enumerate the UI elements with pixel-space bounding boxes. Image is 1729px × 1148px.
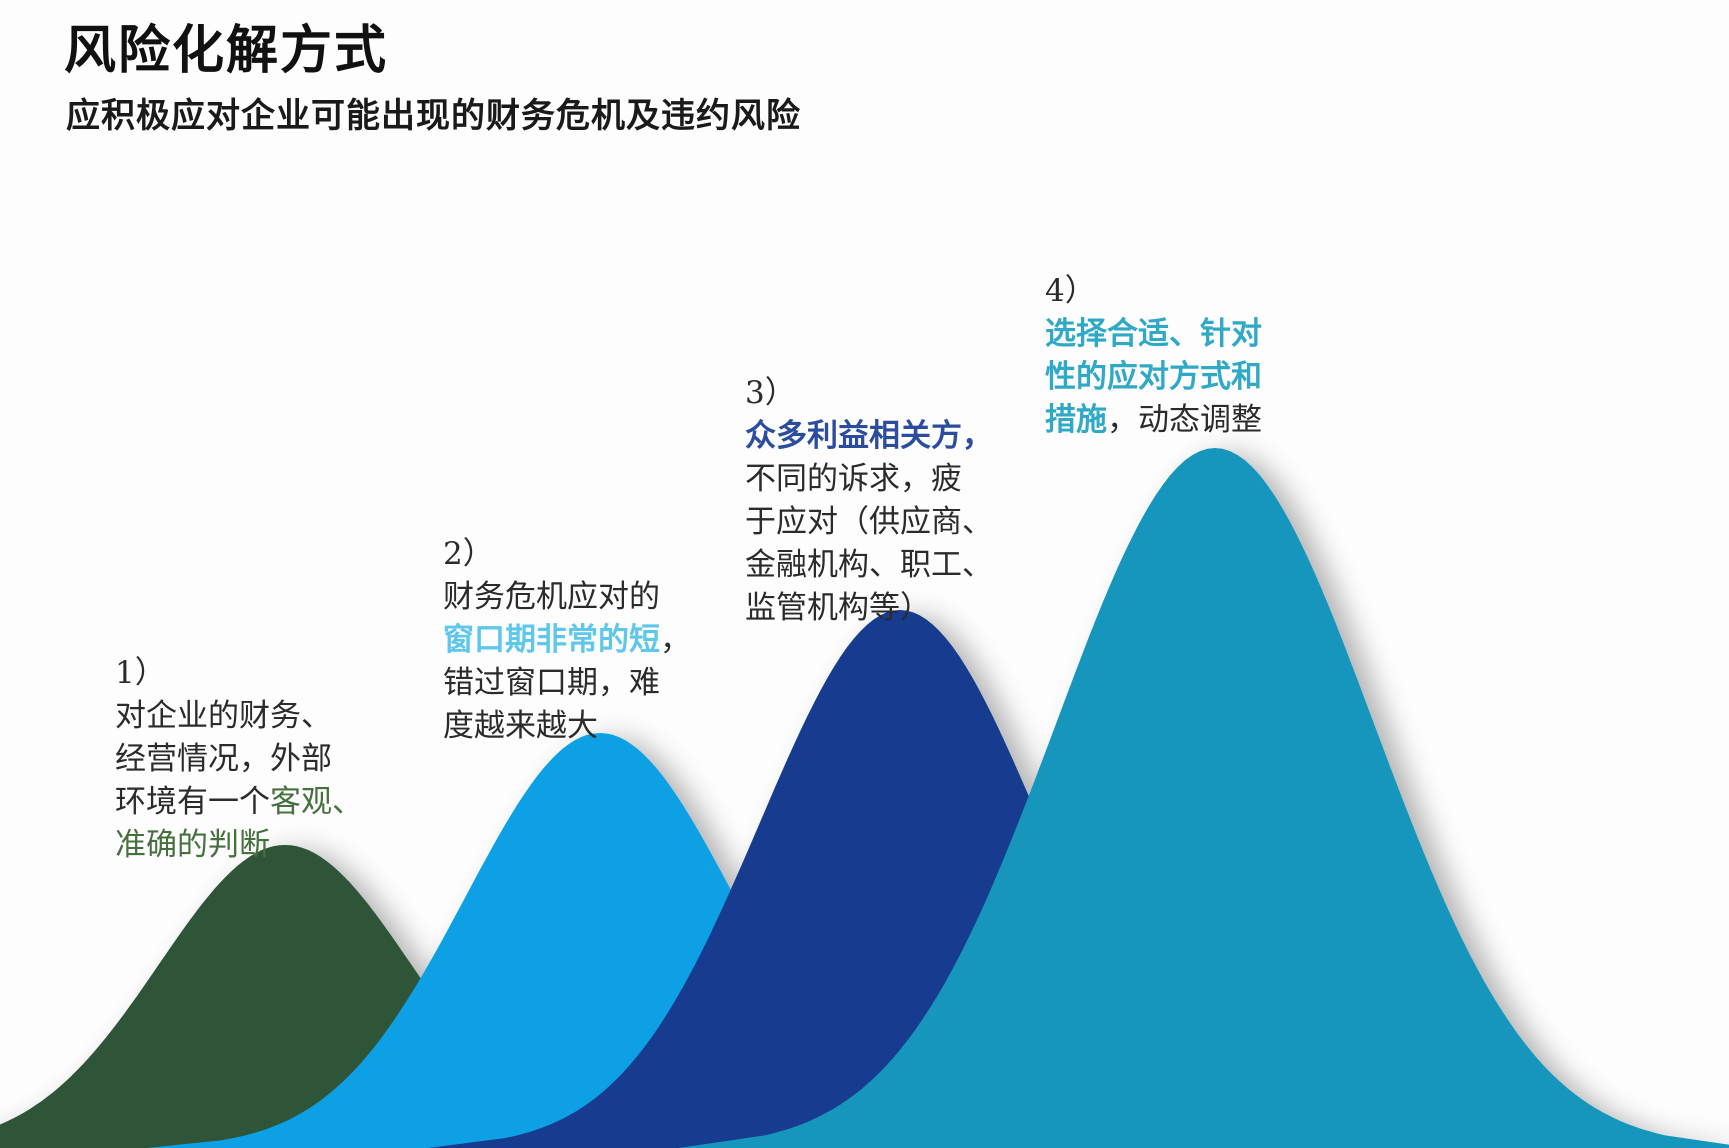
annotation-1-line-1: 对企业的财务、 — [115, 695, 363, 738]
annotation-number-1: 1） — [115, 652, 166, 695]
annotation-block-1: 1） 对企业的财务、 经营情况，外部 环境有一个客观、 准确的判断 — [115, 652, 363, 867]
annotation-1-line-1-plain: 对企业的财务、 — [115, 698, 332, 734]
annotation-4-line-2-highlight: 性的应对方式和 — [1045, 359, 1262, 395]
annotation-4-line-2: 性的应对方式和 — [1045, 356, 1262, 399]
annotation-2-line-2: 窗口期非常的短， — [443, 619, 691, 662]
annotation-3-line-1: 众多利益相关方， — [745, 415, 993, 458]
annotation-number-4: 4） — [1045, 270, 1096, 313]
annotation-2-line-4: 度越来越大 — [443, 705, 691, 748]
annotation-block-3: 3） 众多利益相关方， 不同的诉求，疲 于应对（供应商、 金融机构、职工、 监管… — [745, 372, 993, 630]
annotation-3-line-5: 监管机构等） — [745, 587, 993, 630]
slide-canvas: 风险化解方式 应积极应对企业可能出现的财务危机及违约风险 1） 对企业的财务、 — [0, 0, 1729, 1148]
annotation-2-line-3-plain: 错过窗口期，难 — [443, 665, 660, 701]
annotation-block-4: 4） 选择合适、针对 性的应对方式和 措施，动态调整 — [1045, 270, 1262, 442]
annotation-4-line-1-highlight: 选择合适、针对 — [1045, 316, 1262, 352]
annotation-3-line-3-plain: 于应对（供应商、 — [745, 504, 993, 540]
annotation-3-line-4: 金融机构、职工、 — [745, 544, 993, 587]
annotation-2-line-3: 错过窗口期，难 — [443, 662, 691, 705]
annotation-4-line-3-highlight: 措施 — [1045, 402, 1107, 438]
annotation-1-line-3-highlight: 客观、 — [270, 784, 363, 820]
annotation-1-line-2-plain: 经营情况，外部 — [115, 741, 332, 777]
annotation-4-line-3-plain: ，动态调整 — [1107, 402, 1262, 438]
annotation-3-line-2: 不同的诉求，疲 — [745, 458, 993, 501]
annotation-2-line-1-plain: 财务危机应对的 — [443, 579, 660, 615]
annotation-1-line-3: 环境有一个客观、 — [115, 781, 363, 824]
annotation-2-line-2-comma: ， — [660, 622, 691, 658]
annotation-3-line-5-plain: 监管机构等） — [745, 590, 931, 626]
annotation-1-line-4: 准确的判断 — [115, 824, 363, 867]
annotation-3-line-4-plain: 金融机构、职工、 — [745, 547, 993, 583]
annotation-3-line-2-plain: 不同的诉求，疲 — [745, 461, 962, 497]
annotation-2-line-1: 财务危机应对的 — [443, 576, 691, 619]
annotation-3-line-3: 于应对（供应商、 — [745, 501, 993, 544]
annotation-1-line-2: 经营情况，外部 — [115, 738, 363, 781]
annotation-2-line-4-plain: 度越来越大 — [443, 708, 598, 744]
annotation-number-2: 2） — [443, 533, 494, 576]
annotation-4-line-1: 选择合适、针对 — [1045, 313, 1262, 356]
annotation-1-line-3-plain: 环境有一个 — [115, 784, 270, 820]
annotation-1-line-4-highlight: 准确的判断 — [115, 827, 270, 863]
annotation-4-line-3: 措施，动态调整 — [1045, 399, 1262, 442]
annotation-3-line-1-highlight: 众多利益相关方， — [745, 418, 993, 454]
annotation-number-3: 3） — [745, 372, 796, 415]
annotation-block-2: 2） 财务危机应对的 窗口期非常的短， 错过窗口期，难 度越来越大 — [443, 533, 691, 748]
annotation-2-line-2-highlight: 窗口期非常的短 — [443, 622, 660, 658]
